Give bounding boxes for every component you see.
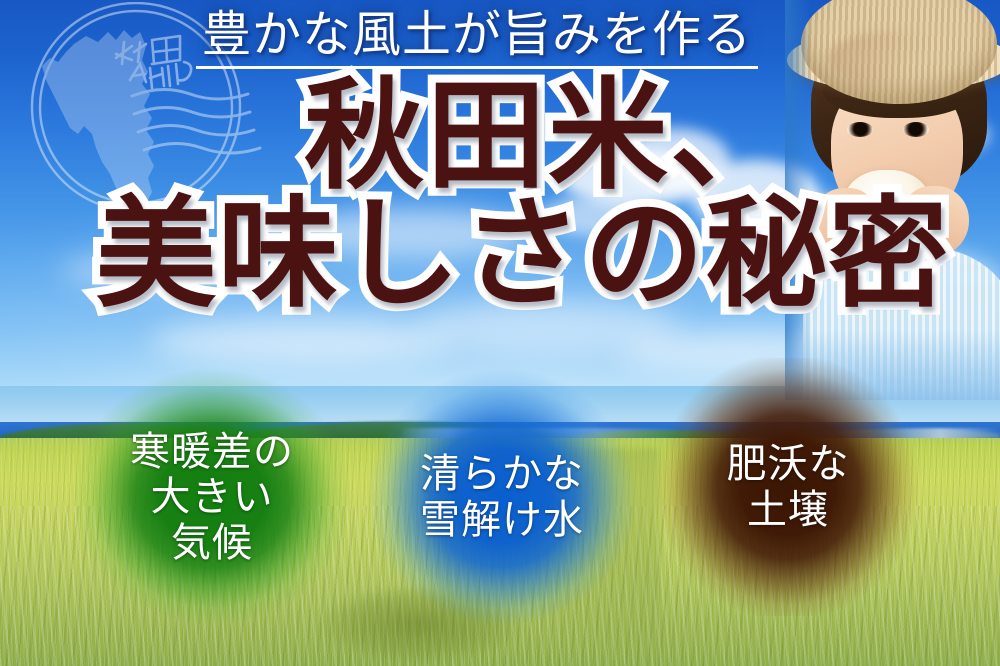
headline-line-2: 美味しさの秘密 [96,196,896,314]
girl-eye-right [903,122,929,137]
badge-line: 肥沃な [727,441,850,487]
badge-line: 土壌 [727,487,850,533]
badge-line: 雪解け水 [420,497,584,543]
akita-rice-promo-banner: 豊かな風土が旨みを作る 秋田米、 美味しさの秘密 寒暖差の 大きい 気候 清らか… [0,0,1000,666]
cloud-shape [150,318,450,364]
badge-label-water: 清らかな 雪解け水 [420,451,584,542]
badge-label-climate: 寒暖差の 大きい 気候 [130,429,294,566]
badge-label-soil: 肥沃な 土壌 [727,441,850,532]
badge-line: 大きい [130,474,294,520]
page-title: 秋田米、 美味しさの秘密 [96,78,896,313]
badge-line: 気候 [130,520,294,566]
girl-hair-highlight [829,32,949,84]
headline-line-1: 秋田米、 [96,78,896,196]
badge-line: 清らかな [420,451,584,497]
subtitle: 豊かな風土が旨みを作る [196,6,758,69]
feature-badge-climate: 寒暖差の 大きい 気候 [62,368,362,626]
feature-badge-soil: 肥沃な 土壌 [638,358,938,616]
badge-line: 寒暖差の [130,429,294,475]
feature-badge-water: 清らかな 雪解け水 [352,368,652,626]
